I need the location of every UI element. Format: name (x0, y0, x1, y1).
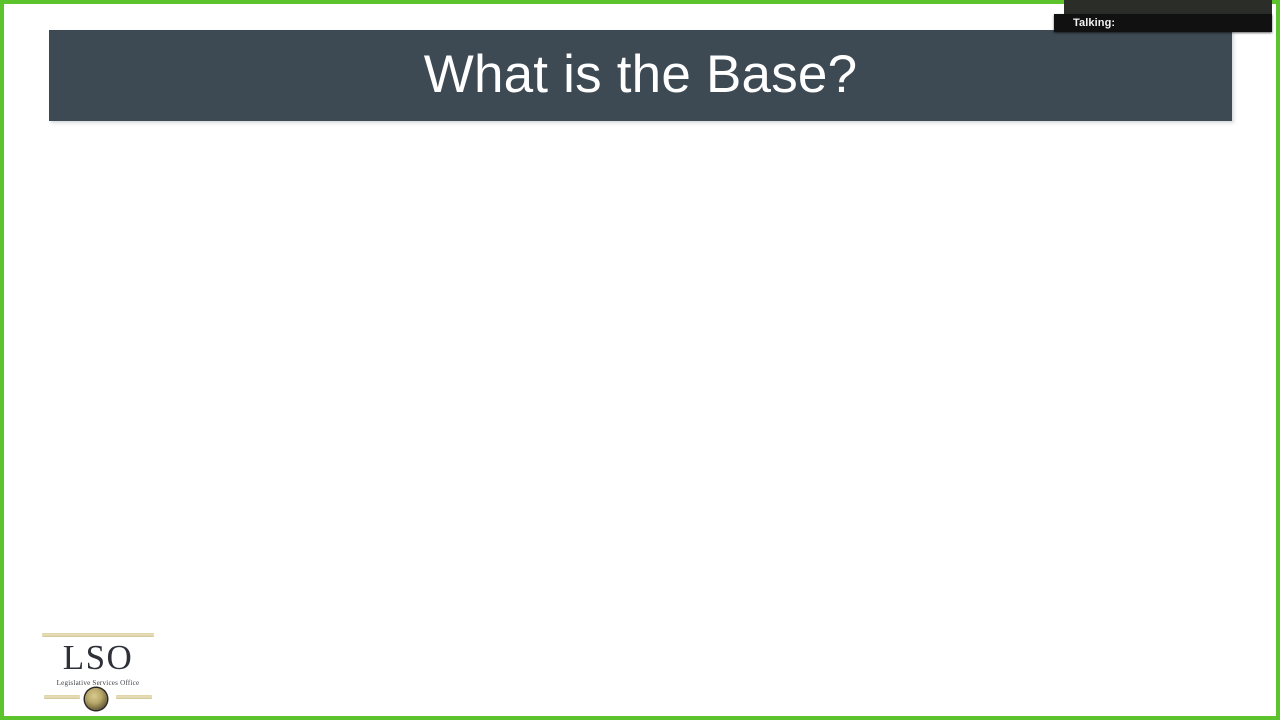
screen-share-window: What is the Base? LSO Legislative Servic… (0, 0, 1280, 720)
presentation-slide: What is the Base? LSO Legislative Servic… (4, 4, 1276, 716)
talking-indicator-bar[interactable]: Talking: (1054, 14, 1272, 32)
slide-title-bar: What is the Base? (49, 30, 1232, 121)
lso-logo: LSO Legislative Services Office (40, 628, 156, 716)
talking-overlay-top-strip (1064, 0, 1272, 15)
logo-rule-top-icon (42, 633, 154, 637)
slide-title-text: What is the Base? (424, 48, 858, 104)
logo-wordmark-text: LSO (40, 638, 156, 677)
logo-subtitle-text: Legislative Services Office (40, 679, 156, 687)
talking-indicator-overlay[interactable]: Talking: (1064, 0, 1272, 32)
slide-body-content (49, 134, 1232, 614)
logo-rule-left-icon (44, 695, 80, 699)
state-seal-emblem-icon (85, 688, 107, 710)
talking-label: Talking: (1054, 18, 1115, 29)
logo-rule-right-icon (116, 695, 152, 699)
